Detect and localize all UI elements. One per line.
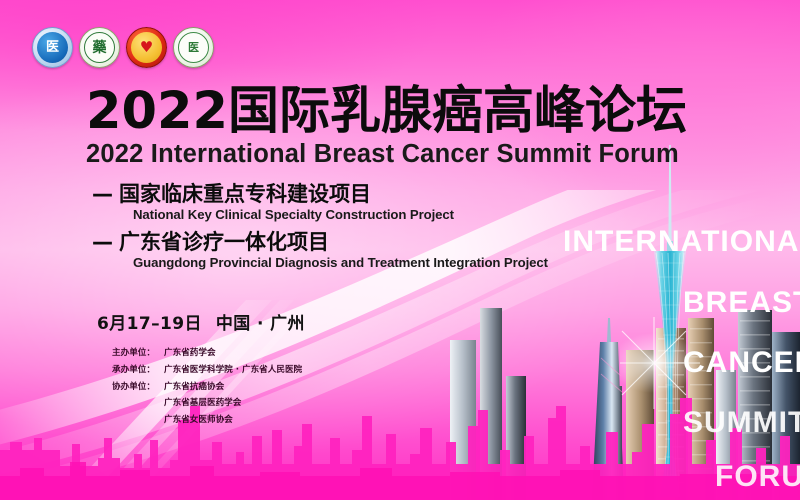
- program-subtitle-chinese-text: 国家临床重点专科建设项目: [119, 182, 371, 206]
- page-title: 2022国际乳腺癌高峰论坛: [86, 86, 726, 138]
- logo-glyph: ♥: [140, 40, 153, 55]
- logo-glyph: 藥: [93, 41, 107, 55]
- dash-marker: —: [92, 230, 113, 254]
- page-subtitle-english: 2022 International Breast Cancer Summit …: [86, 140, 726, 169]
- program-subtitle-chinese: —国家临床重点专科建设项目: [92, 182, 612, 206]
- organizer-row: 承办单位： 广东省医学科学院 · 广东省人民医院: [112, 362, 302, 379]
- event-date: 6月17–19日: [97, 314, 202, 334]
- organizer-value: 广东省女医师协会: [164, 412, 233, 429]
- program-subtitle-chinese-text: 广东省诊疗一体化项目: [119, 230, 329, 254]
- guangdong-pharmaceutical-association-emblem-icon: 医: [32, 27, 73, 68]
- organizer-label: 承办单位：: [112, 362, 164, 379]
- program-subtitles: —国家临床重点专科建设项目 National Key Clinical Spec…: [92, 182, 612, 278]
- organizer-logo-row: 医 藥 ♥ 医: [32, 27, 214, 68]
- title-block: 2022国际乳腺癌高峰论坛 2022 International Breast …: [86, 86, 726, 169]
- organizer-row: 协办单位： 广东省基层医药学会: [112, 395, 302, 412]
- event-date-location: 6月17–19日中国 · 广州: [97, 309, 305, 334]
- logo-glyph: 医: [188, 42, 199, 53]
- event-location: 中国 · 广州: [216, 314, 305, 334]
- organizer-value: 广东省药学会: [164, 345, 216, 362]
- conference-poster: 医 藥 ♥ 医 2022国际乳腺癌高峰论坛 2022 International…: [0, 0, 800, 500]
- organizer-label: 主办单位：: [112, 345, 164, 362]
- organizer-list: 主办单位： 广东省药学会 承办单位： 广东省医学科学院 · 广东省人民医院 协办…: [112, 345, 302, 429]
- anti-cancer-heart-emblem-icon: ♥: [126, 27, 167, 68]
- organizer-value: 广东省医学科学院 · 广东省人民医院: [164, 362, 302, 379]
- dash-marker: —: [92, 182, 113, 206]
- organizer-row: 主办单位： 广东省药学会: [112, 345, 302, 362]
- logo-glyph: 医: [46, 41, 59, 54]
- organizer-value: 广东省抗癌协会: [164, 379, 224, 396]
- organizer-row: 协办单位： 广东省女医师协会: [112, 412, 302, 429]
- organizer-value: 广东省基层医药学会: [164, 395, 241, 412]
- organizer-label: 协办单位：: [112, 379, 164, 396]
- program-subtitle-english: Guangdong Provincial Diagnosis and Treat…: [133, 255, 612, 270]
- medical-academy-emblem-icon: 医: [173, 27, 214, 68]
- program-subtitle-item: —广东省诊疗一体化项目 Guangdong Provincial Diagnos…: [92, 230, 612, 270]
- pharmacy-society-emblem-icon: 藥: [79, 27, 120, 68]
- program-subtitle-chinese: —广东省诊疗一体化项目: [92, 230, 612, 254]
- program-subtitle-english: National Key Clinical Specialty Construc…: [133, 207, 612, 222]
- organizer-row: 协办单位： 广东省抗癌协会: [112, 379, 302, 396]
- program-subtitle-item: —国家临床重点专科建设项目 National Key Clinical Spec…: [92, 182, 612, 222]
